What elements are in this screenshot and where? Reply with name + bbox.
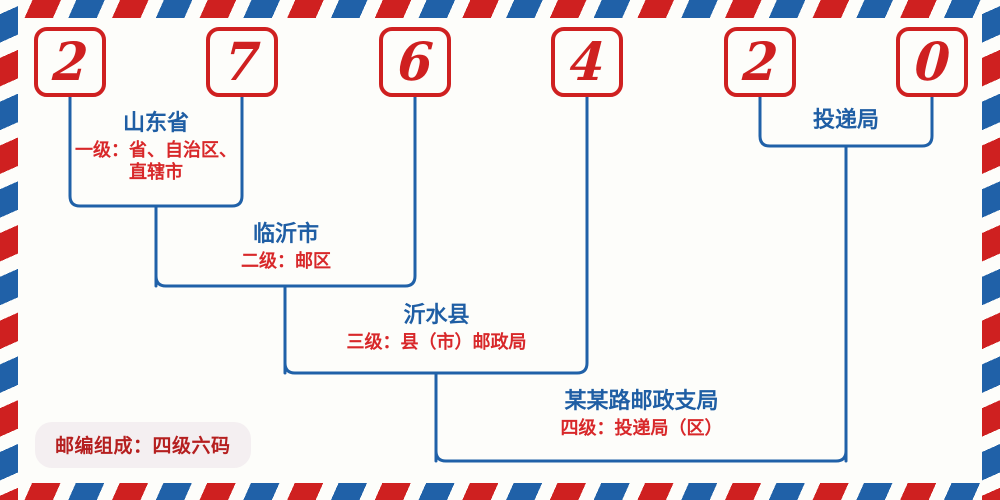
postcode-digit-5[interactable]: 2 (724, 27, 796, 97)
label-delivery-office: 投递局 (768, 108, 924, 134)
level-4-desc: 四级：投递局（区） (445, 418, 838, 441)
label-level-3: 沂水县 三级：县（市）邮政局 (294, 303, 579, 354)
label-level-1: 山东省 一级：省、自治区、直辖市 (73, 111, 239, 185)
digit-glyph: 2 (51, 36, 89, 89)
digit-glyph: 4 (568, 36, 606, 89)
postcode-digit-6[interactable]: 0 (896, 27, 968, 97)
label-level-2: 临沂市 二级：邮区 (165, 222, 407, 273)
postcode-digit-1[interactable]: 2 (34, 27, 106, 97)
level-1-desc: 一级：省、自治区、直辖市 (74, 140, 239, 185)
level-1-name: 山东省 (73, 111, 239, 137)
label-level-4: 某某路邮政支局 四级：投递局（区） (445, 389, 838, 440)
summary-badge: 邮编组成：四级六码 (35, 422, 251, 468)
postcode-digit-2[interactable]: 7 (206, 27, 278, 97)
envelope-infographic: 2 7 6 4 2 0 山东省 一级：省、自治区、直辖市 临沂市 二级：邮区 沂… (0, 0, 1000, 500)
postcode-digit-3[interactable]: 6 (379, 27, 451, 97)
delivery-office-name: 投递局 (768, 108, 924, 134)
level-2-name: 临沂市 (165, 222, 407, 248)
digit-glyph: 2 (741, 36, 779, 89)
digit-glyph: 0 (913, 36, 951, 89)
level-3-name: 沂水县 (294, 303, 579, 329)
digit-glyph: 7 (223, 36, 261, 89)
digit-glyph: 6 (396, 36, 434, 89)
level-4-name: 某某路邮政支局 (445, 389, 838, 415)
level-2-desc: 二级：邮区 (165, 251, 407, 274)
level-3-desc: 三级：县（市）邮政局 (294, 332, 579, 355)
postcode-digit-4[interactable]: 4 (551, 27, 623, 97)
